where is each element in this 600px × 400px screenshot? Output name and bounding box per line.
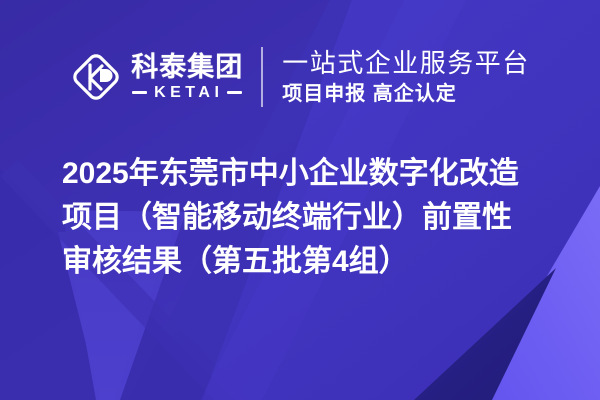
banner-header: 科泰集团 KETAI 一站式企业服务平台 项目申报 高企认定 [0,34,600,120]
logo-english-name: KETAI [151,85,223,101]
logo-rule-right [227,91,242,94]
page-title-line-3: 审核结果（第五批第4组） [62,240,562,284]
logo-chinese-name: 科泰集团 [131,54,243,81]
slogan-main: 一站式企业服务平台 [282,49,530,78]
logo-wordmark: 科泰集团 KETAI [131,54,243,101]
page-title-line-2: 项目（智能移动终端行业）前置性 [62,196,562,240]
logo-rule-left [132,91,147,94]
ketai-diamond-kp-logo-icon [70,51,122,103]
promo-banner: 科泰集团 KETAI 一站式企业服务平台 项目申报 高企认定 2025年东莞市中… [0,0,600,400]
page-title-line-1: 2025年东莞市中小企业数字化改造 [62,152,562,196]
brand-logo: 科泰集团 KETAI [70,51,261,103]
slogan-block: 一站式企业服务平台 项目申报 高企认定 [263,49,530,104]
page-title: 2025年东莞市中小企业数字化改造 项目（智能移动终端行业）前置性 审核结果（第… [62,152,562,284]
logo-p-bowl [100,69,113,82]
slogan-sub: 项目申报 高企认定 [282,83,530,105]
logo-english-row: KETAI [131,85,243,101]
